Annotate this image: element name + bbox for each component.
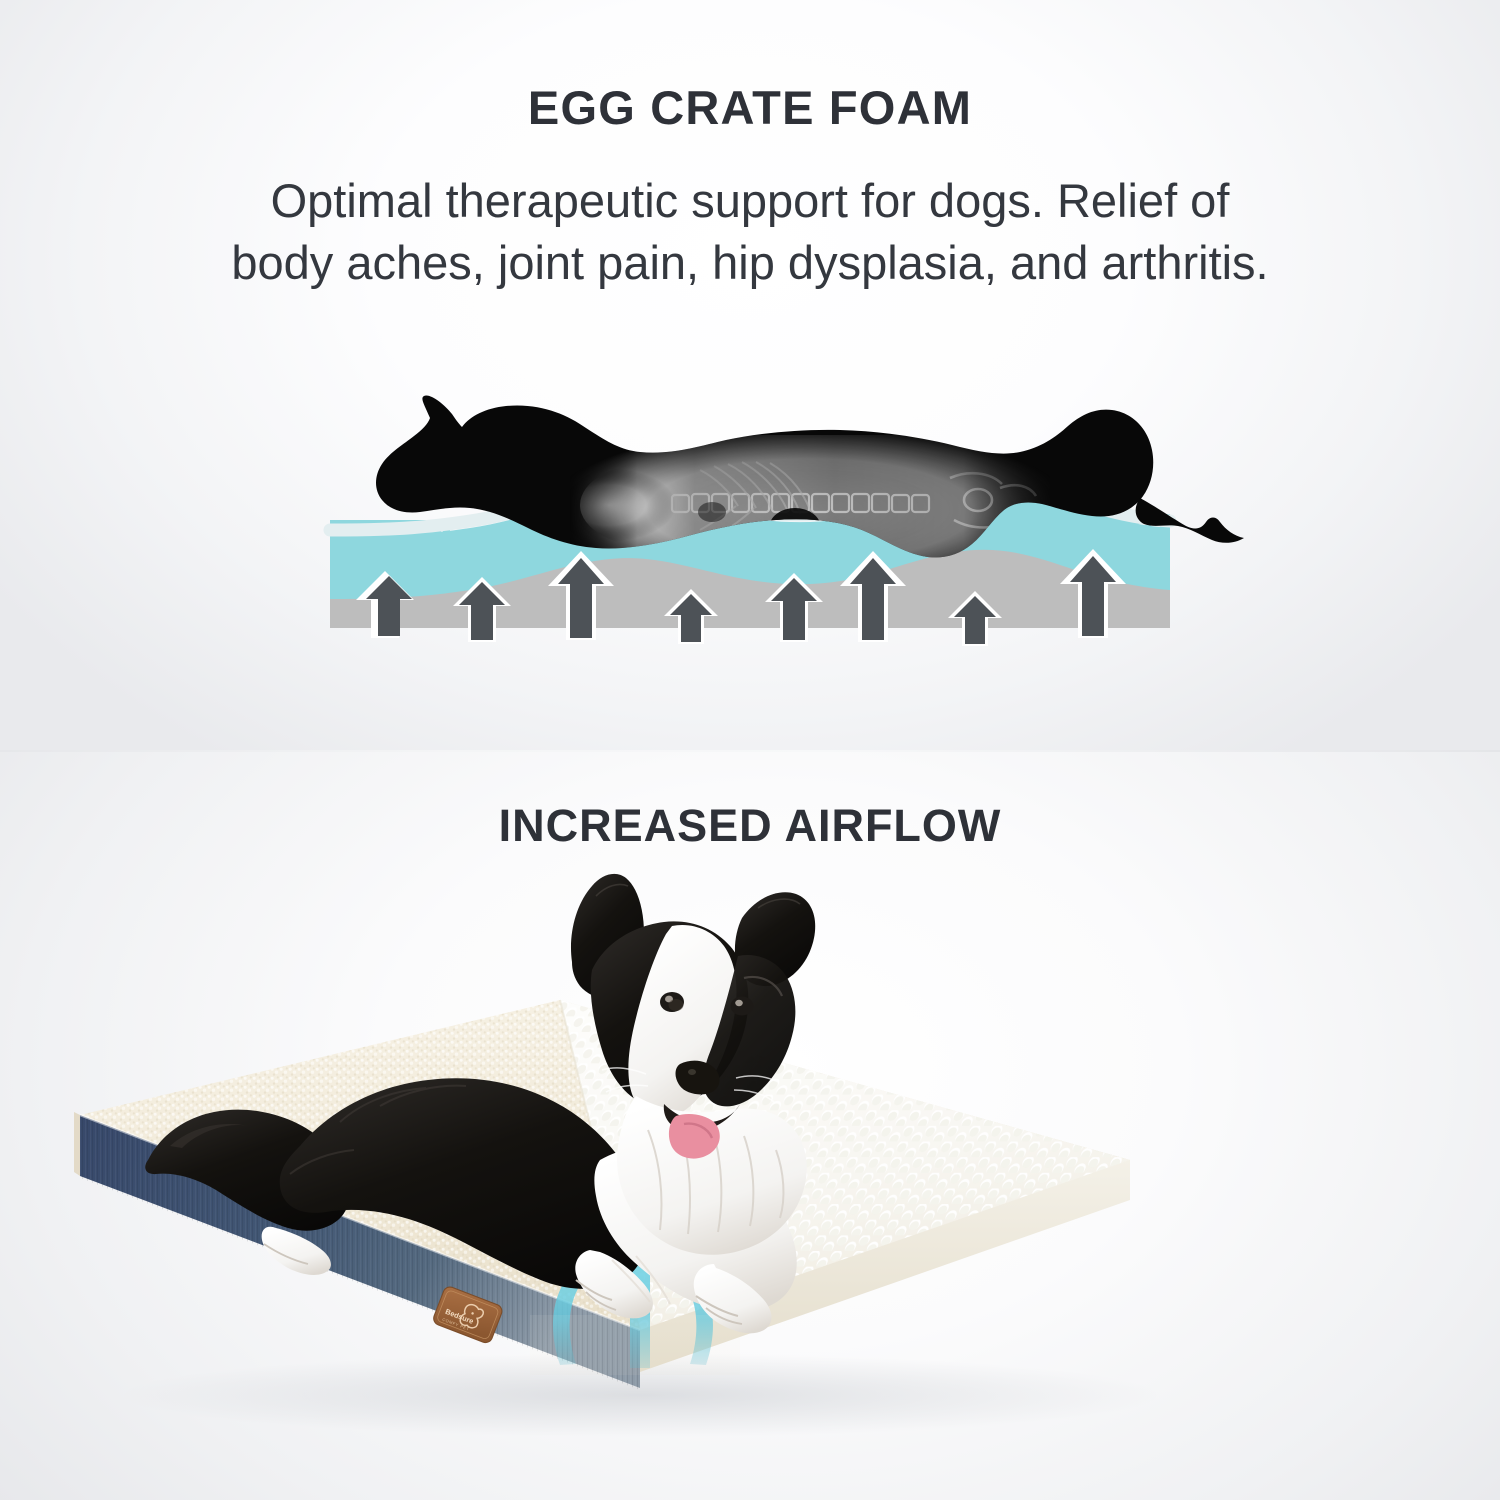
section-title-egg-crate-foam: EGG CRATE FOAM <box>0 80 1500 135</box>
subtitle-line-1: Optimal therapeutic support for dogs. Re… <box>50 170 1450 232</box>
section-title-increased-airflow: INCREASED AIRFLOW <box>0 800 1500 852</box>
subtitle-line-2: body aches, joint pain, hip dysplasia, a… <box>50 232 1450 294</box>
infographic-canvas: EGG CRATE FOAM Optimal therapeutic suppo… <box>0 0 1500 1500</box>
section-subtitle-egg-crate-foam: Optimal therapeutic support for dogs. Re… <box>50 170 1450 294</box>
foam-cross-section-diagram <box>0 380 1500 670</box>
dog-bed-product-scene: Bedsure COMFY PET <box>0 860 1500 1480</box>
